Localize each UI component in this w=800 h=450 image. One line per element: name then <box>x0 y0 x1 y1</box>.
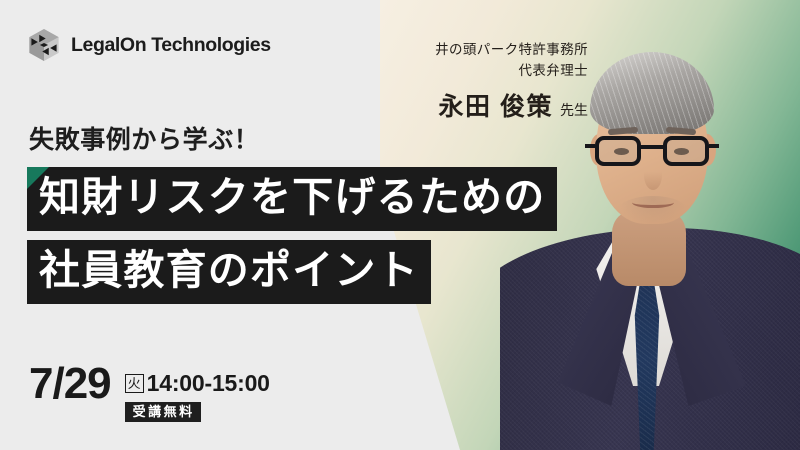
speaker-honorific: 先生 <box>560 100 588 122</box>
headline-title-line-2: 社員教育のポイント <box>27 240 431 304</box>
speaker-credit: 井の頭パーク特許事務所 代表弁理士 永田 俊策 先生 <box>435 40 588 127</box>
portrait-mouth <box>632 196 674 208</box>
headline-kicker: 失敗事例から学ぶ！ <box>29 120 259 156</box>
eyeglass-temple-right <box>709 144 719 148</box>
eyeglass-lens-right <box>663 136 709 166</box>
brand-logo[interactable]: LegalOn Technologies <box>27 28 271 62</box>
brand-logo-text: LegalOn Technologies <box>71 34 271 57</box>
speaker-name-row: 永田 俊策 先生 <box>435 88 588 127</box>
event-date: 7/29 <box>29 364 111 404</box>
schedule-footer: 7/29 火 14:00-15:00 受講無料 <box>29 364 270 422</box>
portrait-hair <box>590 52 714 134</box>
eyeglasses-icon <box>593 136 711 170</box>
schedule-details: 火 14:00-15:00 受講無料 <box>125 364 270 422</box>
speaker-name: 永田 俊策 <box>439 88 553 127</box>
eyeglass-lens-left <box>595 136 641 166</box>
eyeglass-bridge <box>641 145 663 149</box>
speaker-organization: 井の頭パーク特許事務所 <box>435 40 588 61</box>
price-badge: 受講無料 <box>125 402 201 422</box>
webinar-banner: LegalOn Technologies 井の頭パーク特許事務所 代表弁理士 永… <box>0 0 800 450</box>
event-time: 14:00-15:00 <box>147 370 270 397</box>
legalon-hexagon-logo-icon <box>27 28 61 62</box>
event-time-row: 火 14:00-15:00 <box>125 370 270 397</box>
headline-title-line-1: 知財リスクを下げるための <box>27 167 557 231</box>
event-day-of-week: 火 <box>125 374 144 393</box>
eyeglass-temple-left <box>585 144 595 148</box>
speaker-role: 代表弁理士 <box>435 61 588 82</box>
